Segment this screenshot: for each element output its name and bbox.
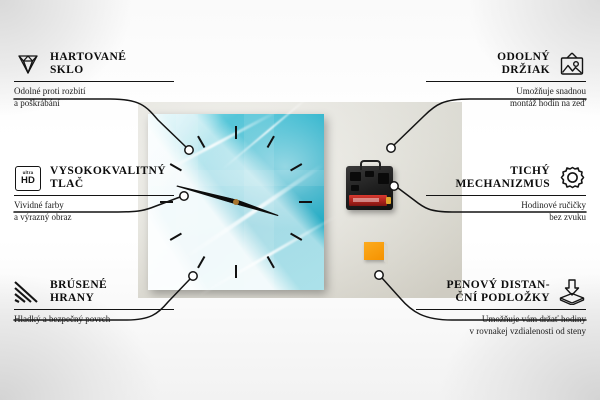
movement-detail [378,173,389,184]
clock-tick [235,265,237,278]
ultra-hd-badge-icon: ultra HD [14,164,42,192]
gear-icon [558,164,586,192]
callout-title: BRÚSENÉ HRANY [50,279,107,306]
callout-divider [14,81,174,82]
feature-callout-durable-hanger[interactable]: ODOLNÝ DRŽIAK Umožňuje snadnou montáž ho… [426,50,586,109]
clock-tick [197,136,205,148]
callout-description: Hladký a bezpečný povrch [14,314,174,326]
battery-label-strip [353,198,379,202]
callout-title: ODOLNÝ DRŽIAK [497,51,550,78]
callout-header: PENOVÝ DISTAN- ČNÍ PODLOŽKY [416,278,586,306]
hd-badge: ultra HD [15,166,41,191]
movement-detail [365,171,374,177]
callout-description: Umožňuje vám držať hodiny v rovnakej vzd… [416,314,586,337]
callout-header: BRÚSENÉ HRANY [14,278,174,306]
callout-title: PENOVÝ DISTAN- ČNÍ PODLOŽKY [447,279,550,306]
clock-battery [349,195,387,206]
feature-callout-hardened-glass[interactable]: HARTOVANÉ SKLO Odolné proti rozbití a po… [14,50,174,109]
product-photo [138,102,462,298]
callout-description: Odolné proti rozbití a poškrábání [14,86,174,109]
feature-callout-beveled-edges[interactable]: BRÚSENÉ HRANY Hladký a bezpečný povrch [14,278,174,326]
callout-header: ODOLNÝ DRŽIAK [426,50,586,78]
feature-callout-silent-mechanism[interactable]: TICHÝ MECHANIZMUS Hodinové ručičky bez z… [426,164,586,223]
callout-title: HARTOVANÉ SKLO [50,51,126,78]
movement-detail [351,185,359,191]
clock-hand-cap [233,199,239,205]
feature-callout-hq-print[interactable]: ultra HD VYSOKOKVALITNÝ TLAČ Vividné far… [14,164,174,223]
foam-spacer-shadow [384,243,388,264]
callout-divider [426,195,586,196]
callout-divider [426,81,586,82]
callout-description: Vividné farby a výrazný obraz [14,200,174,223]
wall-clock [148,114,324,290]
callout-divider [14,195,174,196]
clock-tick [299,201,312,203]
clock-movement [346,166,393,210]
clock-tick [235,126,237,139]
clock-tick [197,256,205,268]
movement-hanger-icon [360,160,381,170]
callout-header: ultra HD VYSOKOKVALITNÝ TLAČ [14,164,174,192]
picture-hanger-icon [558,50,586,78]
callout-divider [416,309,586,310]
callout-title: TICHÝ MECHANIZMUS [456,165,551,192]
feature-callout-foam-spacers[interactable]: PENOVÝ DISTAN- ČNÍ PODLOŽKY Umožňuje vám… [416,278,586,337]
infographic-canvas: HARTOVANÉ SKLO Odolné proti rozbití a po… [0,0,600,400]
press-down-pad-icon [558,278,586,306]
diamond-icon [14,50,42,78]
callout-title: VYSOKOKVALITNÝ TLAČ [50,165,166,192]
callout-description: Hodinové ručičky bez zvuku [426,200,586,223]
movement-detail [350,172,361,181]
hd-badge-main-label: HD [21,176,35,186]
callout-header: HARTOVANÉ SKLO [14,50,174,78]
battery-terminal [386,197,391,204]
clock-texture-band [176,114,198,290]
callout-description: Umožňuje snadnou montáž hodin na zeď [426,86,586,109]
callout-divider [14,309,174,310]
callout-header: TICHÝ MECHANIZMUS [426,164,586,192]
foam-spacer-pad [364,242,384,260]
beveled-edge-icon [14,278,42,306]
